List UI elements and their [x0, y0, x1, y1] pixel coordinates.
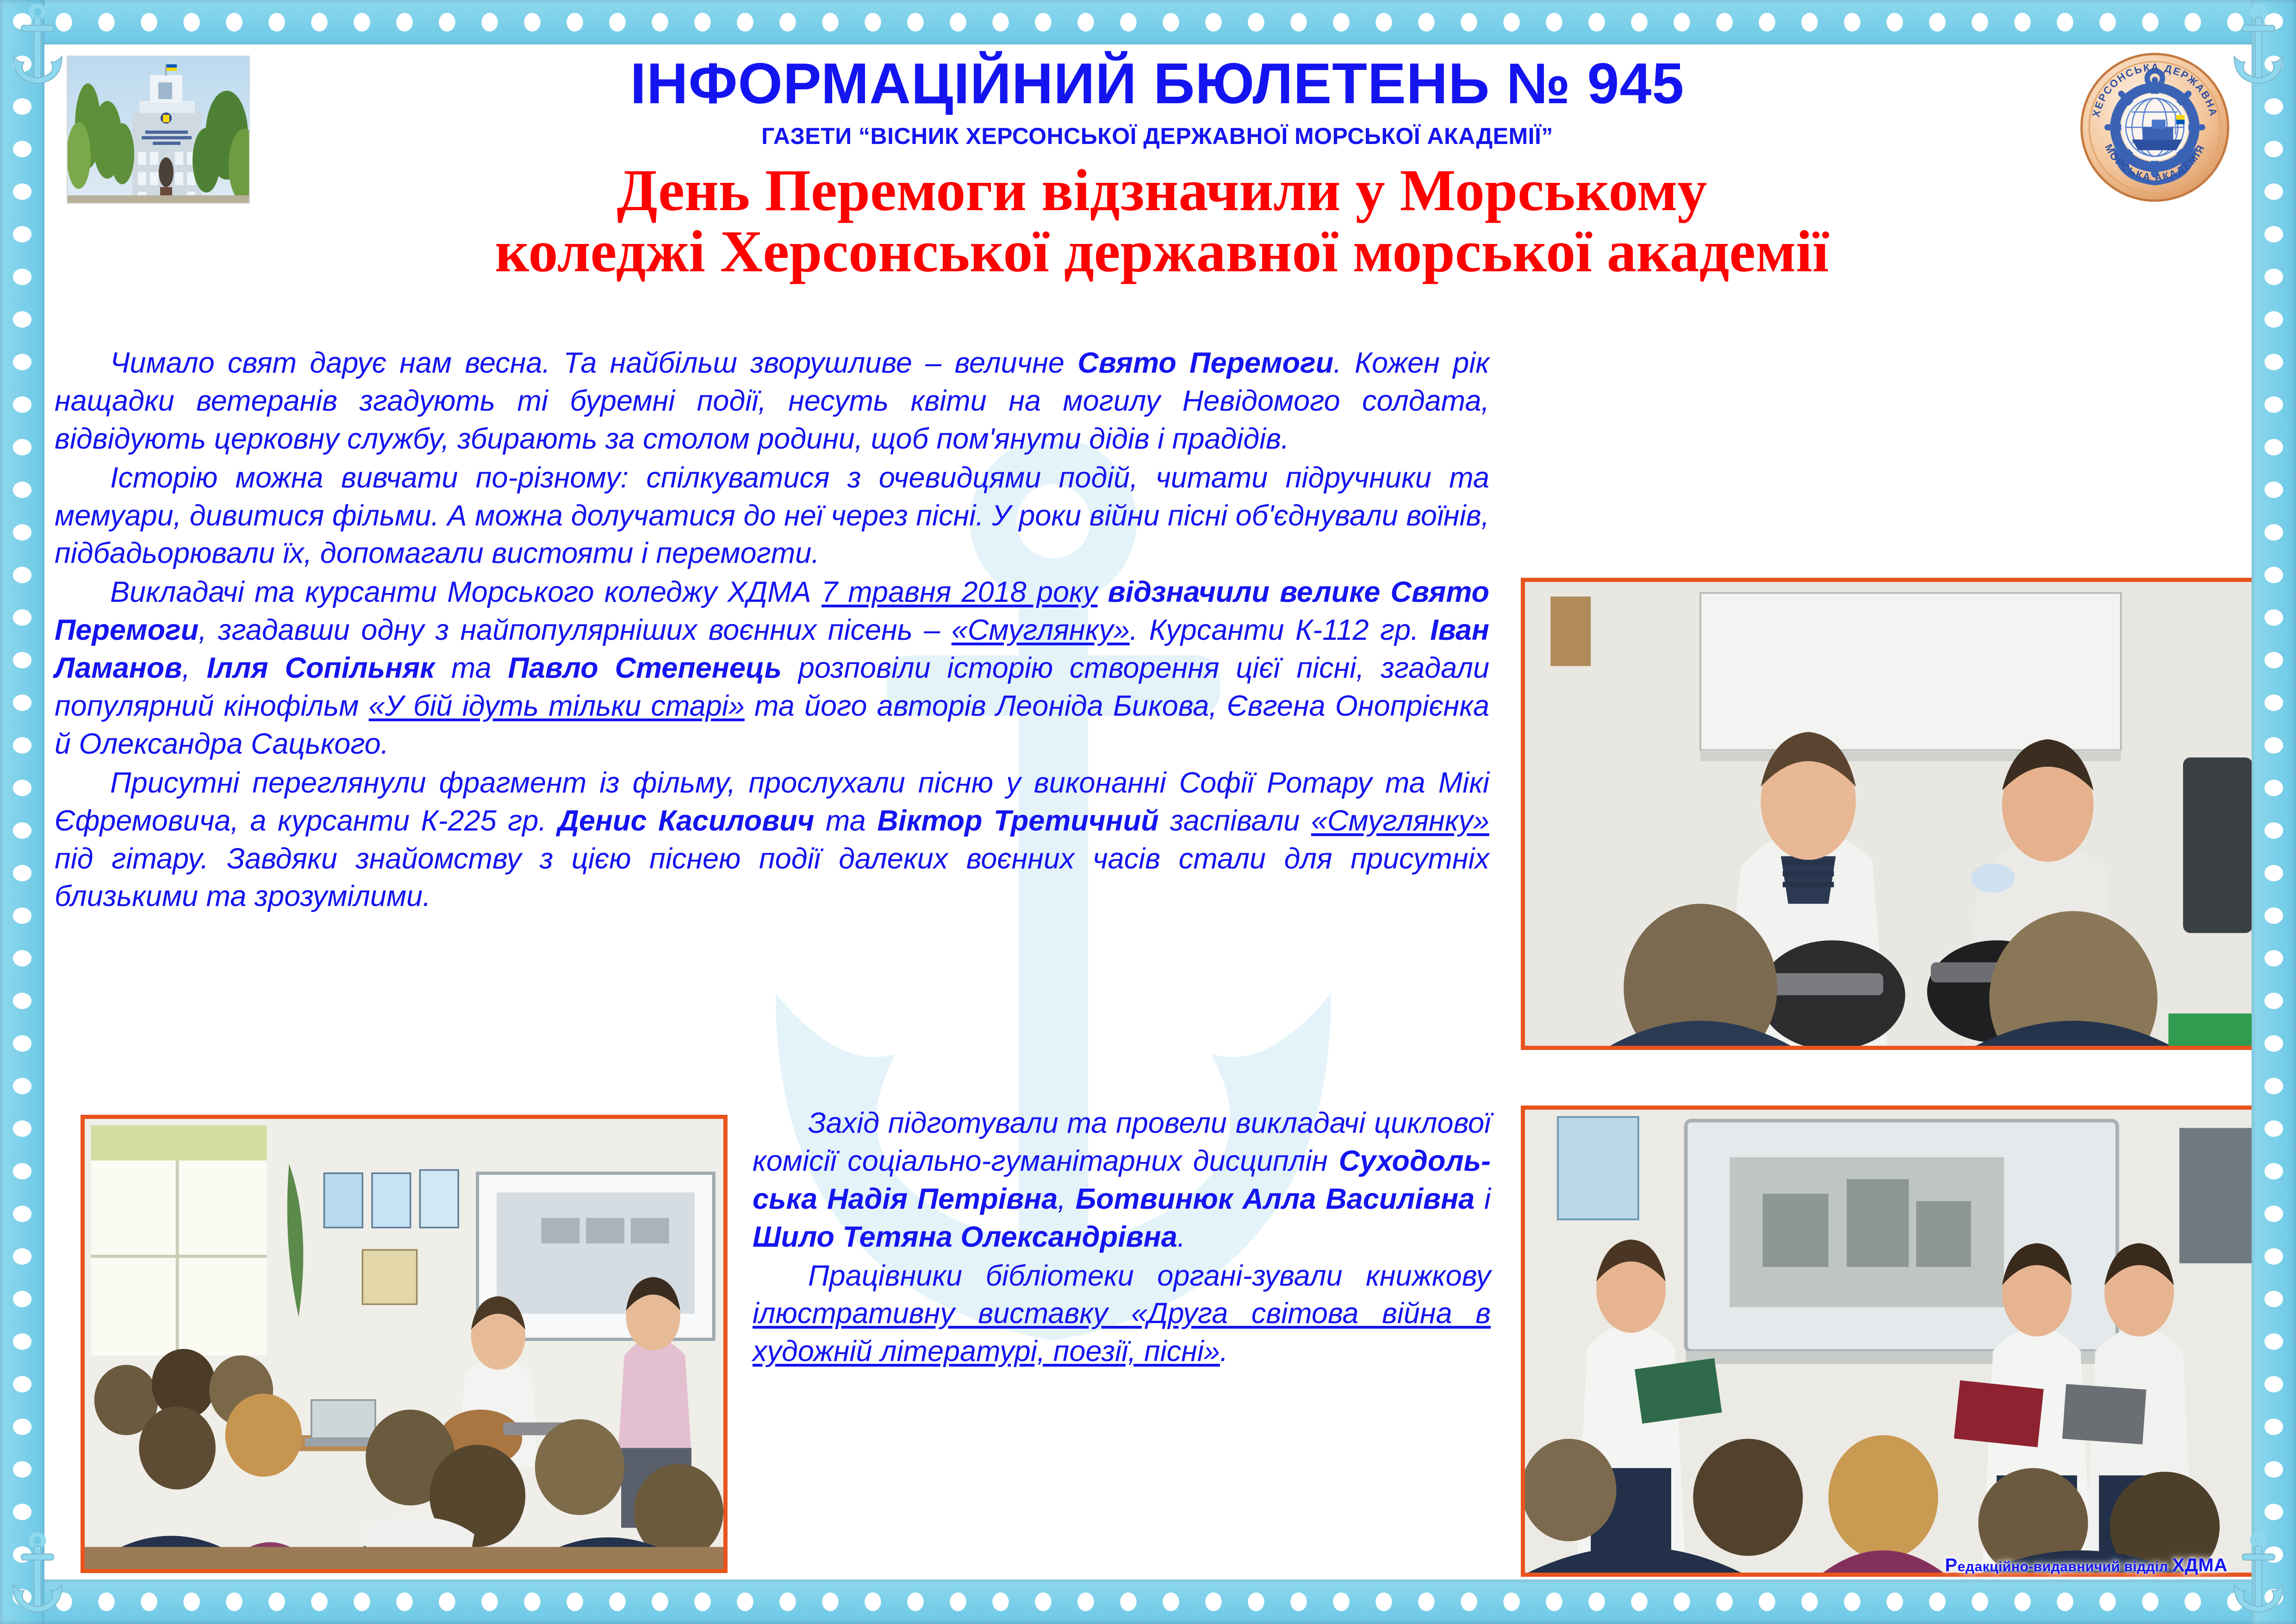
article-headline-line2: коледжі Херсонської державної морської а…: [495, 219, 1829, 284]
p3-part-c: , згадавши одну з найпопулярніших воєнни…: [199, 614, 952, 646]
p4-part-d: під гітару. Завдяки знайомству з цією пі…: [55, 843, 1489, 913]
footer-suffix: ХДМА: [2172, 1555, 2228, 1575]
newspaper-subtitle: ГАЗЕТИ “ВІСНИК ХЕРСОНСЬКОЇ ДЕРЖАВНОЇ МОР…: [248, 124, 2066, 149]
photo-cadets-with-guitars: [1521, 578, 2252, 1050]
p4-and: та: [815, 805, 877, 837]
p3-film-title: «У бій ідуть тільки старі»: [369, 690, 745, 722]
article-body-lower: Захід підготували та провели викладачі ц…: [753, 1105, 1491, 1372]
p3-event-date: 7 травня 2018 року: [821, 576, 1097, 608]
p4-song-title: «Смуглянку»: [1311, 805, 1489, 837]
footer-mid: едакційно-видавничий відділ: [1958, 1559, 2172, 1574]
p4-cadet-tretychnyi: Віктор Третичний: [877, 805, 1158, 837]
p5-teacher-botvynyuk: Ботвинюк Алла Василівна: [1076, 1183, 1475, 1215]
bulletin-header: ХЕРСОНСЬКА ДЕРЖАВНА МОРСЬКА АКАДЕМІЯ ІНФ…: [44, 44, 2252, 350]
p6-part-a: Працівники бібліотеки органі-зували книж…: [808, 1260, 1491, 1292]
paragraph-1: Чимало свят дарує нам весна. Та найбільш…: [55, 344, 1489, 458]
p4-cadet-kasylovych: Денис Касилович: [558, 805, 814, 837]
paragraph-5: Захід підготували та провели викладачі ц…: [753, 1105, 1491, 1256]
paragraph-4: Присутні переглянули фрагмент із фільму,…: [55, 764, 1489, 916]
p5-and: і: [1475, 1183, 1491, 1215]
paragraph-3: Викладачі та курсанти Морського коледжу …: [55, 574, 1489, 763]
footer-prefix: Р: [1945, 1555, 1957, 1575]
p3-space: [1097, 576, 1108, 608]
p3-comma: ,: [182, 652, 206, 684]
p5-period: .: [1177, 1221, 1186, 1253]
p5-teacher-shylo: Шило Тетяна Олександрівна: [753, 1221, 1177, 1253]
article-headline-line1: День Перемоги відзначили у Морському: [617, 157, 1707, 223]
p6-period: .: [1220, 1335, 1228, 1368]
p3-part-d: . Курсанти К-112 гр.: [1130, 614, 1430, 646]
paragraph-6: Працівники бібліотеки органі-зували книж…: [753, 1257, 1491, 1371]
p1-bold-victory-day: Свято Перемоги: [1077, 347, 1333, 379]
footer-credit: Редакційно-видавничий відділ ХДМА: [1945, 1555, 2228, 1576]
p4-part-c: заспівали: [1159, 805, 1311, 837]
p3-cadet-stepenets: Павло Степенець: [508, 652, 782, 684]
bulletin-title: ІНФОРМАЦІЙНИЙ БЮЛЕТЕНЬ № 945: [248, 55, 2066, 113]
photo-cadets-reading-presentation: [1521, 1106, 2252, 1577]
p1-part-a: Чимало свят дарує нам весна. Та найбільш…: [110, 347, 1077, 379]
p3-part-a: Викладачі та курсанти Морського коледжу …: [110, 576, 821, 608]
p3-song-title: «Смуглянку»: [952, 614, 1130, 646]
p3-cadet-sopilnyak: Ілля Сопільняк: [207, 652, 435, 684]
chain-border-bottom: [0, 1580, 2296, 1624]
paragraph-2: Історію можна вивчати по-різному: спілку…: [55, 459, 1489, 573]
p3-and: та: [435, 652, 508, 684]
photo-classroom-audience: [81, 1115, 728, 1573]
p6-exhibition-title: ілюстративну виставку «Друга світова вій…: [753, 1297, 1491, 1368]
chain-border-left: [0, 0, 44, 1624]
bulletin-page: ХЕРСОНСЬКА ДЕРЖАВНА МОРСЬКА АКАДЕМІЯ ІНФ…: [0, 0, 2296, 1624]
article-body-main: Чимало свят дарує нам весна. Та найбільш…: [55, 344, 1489, 917]
chain-border-right: [2252, 0, 2296, 1624]
page-content: ХЕРСОНСЬКА ДЕРЖАВНА МОРСЬКА АКАДЕМІЯ ІНФ…: [44, 44, 2252, 1580]
article-headline: День Перемоги відзначили у Морському кол…: [183, 160, 2140, 282]
p5-comma: ,: [1058, 1183, 1075, 1215]
chain-border-top: [0, 0, 2296, 44]
